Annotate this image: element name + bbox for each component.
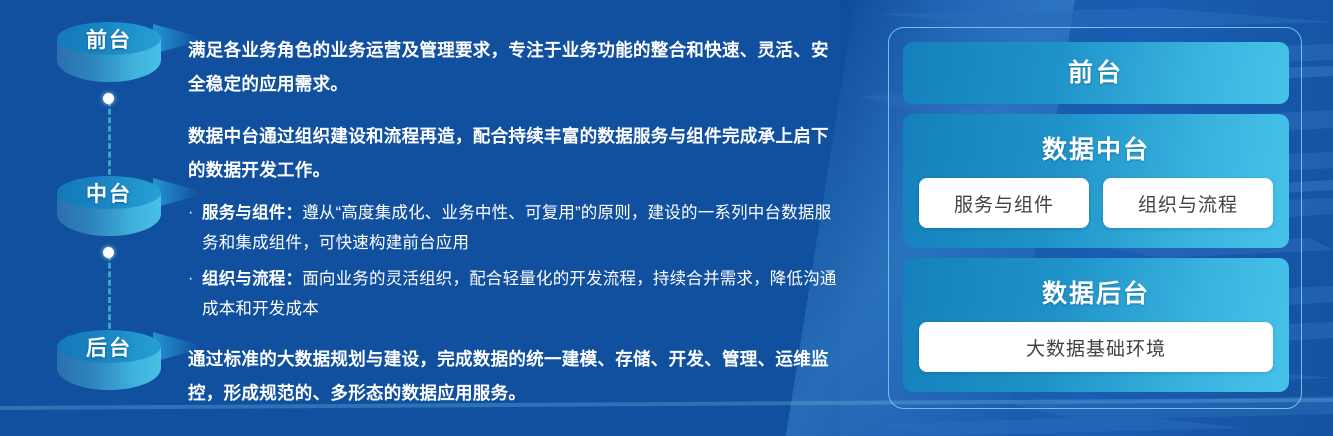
bullet-marker-icon: · (188, 264, 202, 324)
panel-card-title-middle: 数据中台 (903, 114, 1289, 178)
middle-description: 数据中台通过组织建设和流程再造，配合持续丰富的数据服务与组件完成承上启下的数据开… (188, 119, 838, 187)
stage-cylinder-front[interactable]: 前台 (57, 22, 161, 96)
panel-chip-row-middle: 服务与组件 组织与流程 (903, 178, 1289, 228)
bullet-term: 组织与流程： (202, 270, 302, 288)
bullet-text: 服务与组件：遵从“高度集成化、业务中性、可复用”的原则，建设的一系列中台数据服务… (202, 198, 838, 258)
panel-card-title-back: 数据后台 (903, 258, 1289, 322)
stage-label-front: 前台 (57, 22, 161, 55)
infographic-root: 前台 中台 后台 满足各业务角色的业务运营及管理要求，专注于业务功能的整合和快速… (0, 0, 1333, 436)
chip-service-and-component[interactable]: 服务与组件 (919, 178, 1089, 228)
panel-chip-row-back: 大数据基础环境 (903, 322, 1289, 372)
bullet-marker-icon: · (188, 198, 202, 258)
stage-cylinder-back[interactable]: 后台 (57, 330, 161, 404)
front-description: 满足各业务角色的业务运营及管理要求，专注于业务功能的整合和快速、灵活、安全稳定的… (188, 33, 838, 101)
panel-card-title-front: 前台 (903, 42, 1289, 104)
bullet-term: 服务与组件： (202, 204, 302, 222)
node-dot-front (103, 93, 114, 104)
architecture-panel: 前台 数据中台 服务与组件 组织与流程 数据后台 大数据基础环境 (888, 27, 1302, 409)
list-item: · 服务与组件：遵从“高度集成化、业务中性、可复用”的原则，建设的一系列中台数据… (188, 198, 838, 258)
chip-bigdata-base-environment[interactable]: 大数据基础环境 (919, 322, 1273, 372)
list-item: · 组织与流程：面向业务的灵活组织，配合轻量化的开发流程，持续合并需求，降低沟通… (188, 264, 838, 324)
stage-label-back: 后台 (57, 330, 161, 363)
chip-organization-and-process[interactable]: 组织与流程 (1103, 178, 1273, 228)
back-description: 通过标准的大数据规划与建设，完成数据的统一建模、存储、开发、管理、运维监控，形成… (188, 342, 838, 410)
bullet-text: 组织与流程：面向业务的灵活组织，配合轻量化的开发流程，持续合并需求，降低沟通成本… (202, 264, 838, 324)
panel-card-middle[interactable]: 数据中台 服务与组件 组织与流程 (903, 114, 1289, 248)
stage-label-middle: 中台 (57, 176, 161, 209)
panel-card-back[interactable]: 数据后台 大数据基础环境 (903, 258, 1289, 392)
node-dot-middle (103, 247, 114, 258)
description-column: 满足各业务角色的业务运营及管理要求，专注于业务功能的整合和快速、灵活、安全稳定的… (188, 0, 838, 436)
stage-cylinder-middle[interactable]: 中台 (57, 176, 161, 250)
middle-bullet-list: · 服务与组件：遵从“高度集成化、业务中性、可复用”的原则，建设的一系列中台数据… (188, 198, 838, 330)
panel-card-front[interactable]: 前台 (903, 42, 1289, 104)
